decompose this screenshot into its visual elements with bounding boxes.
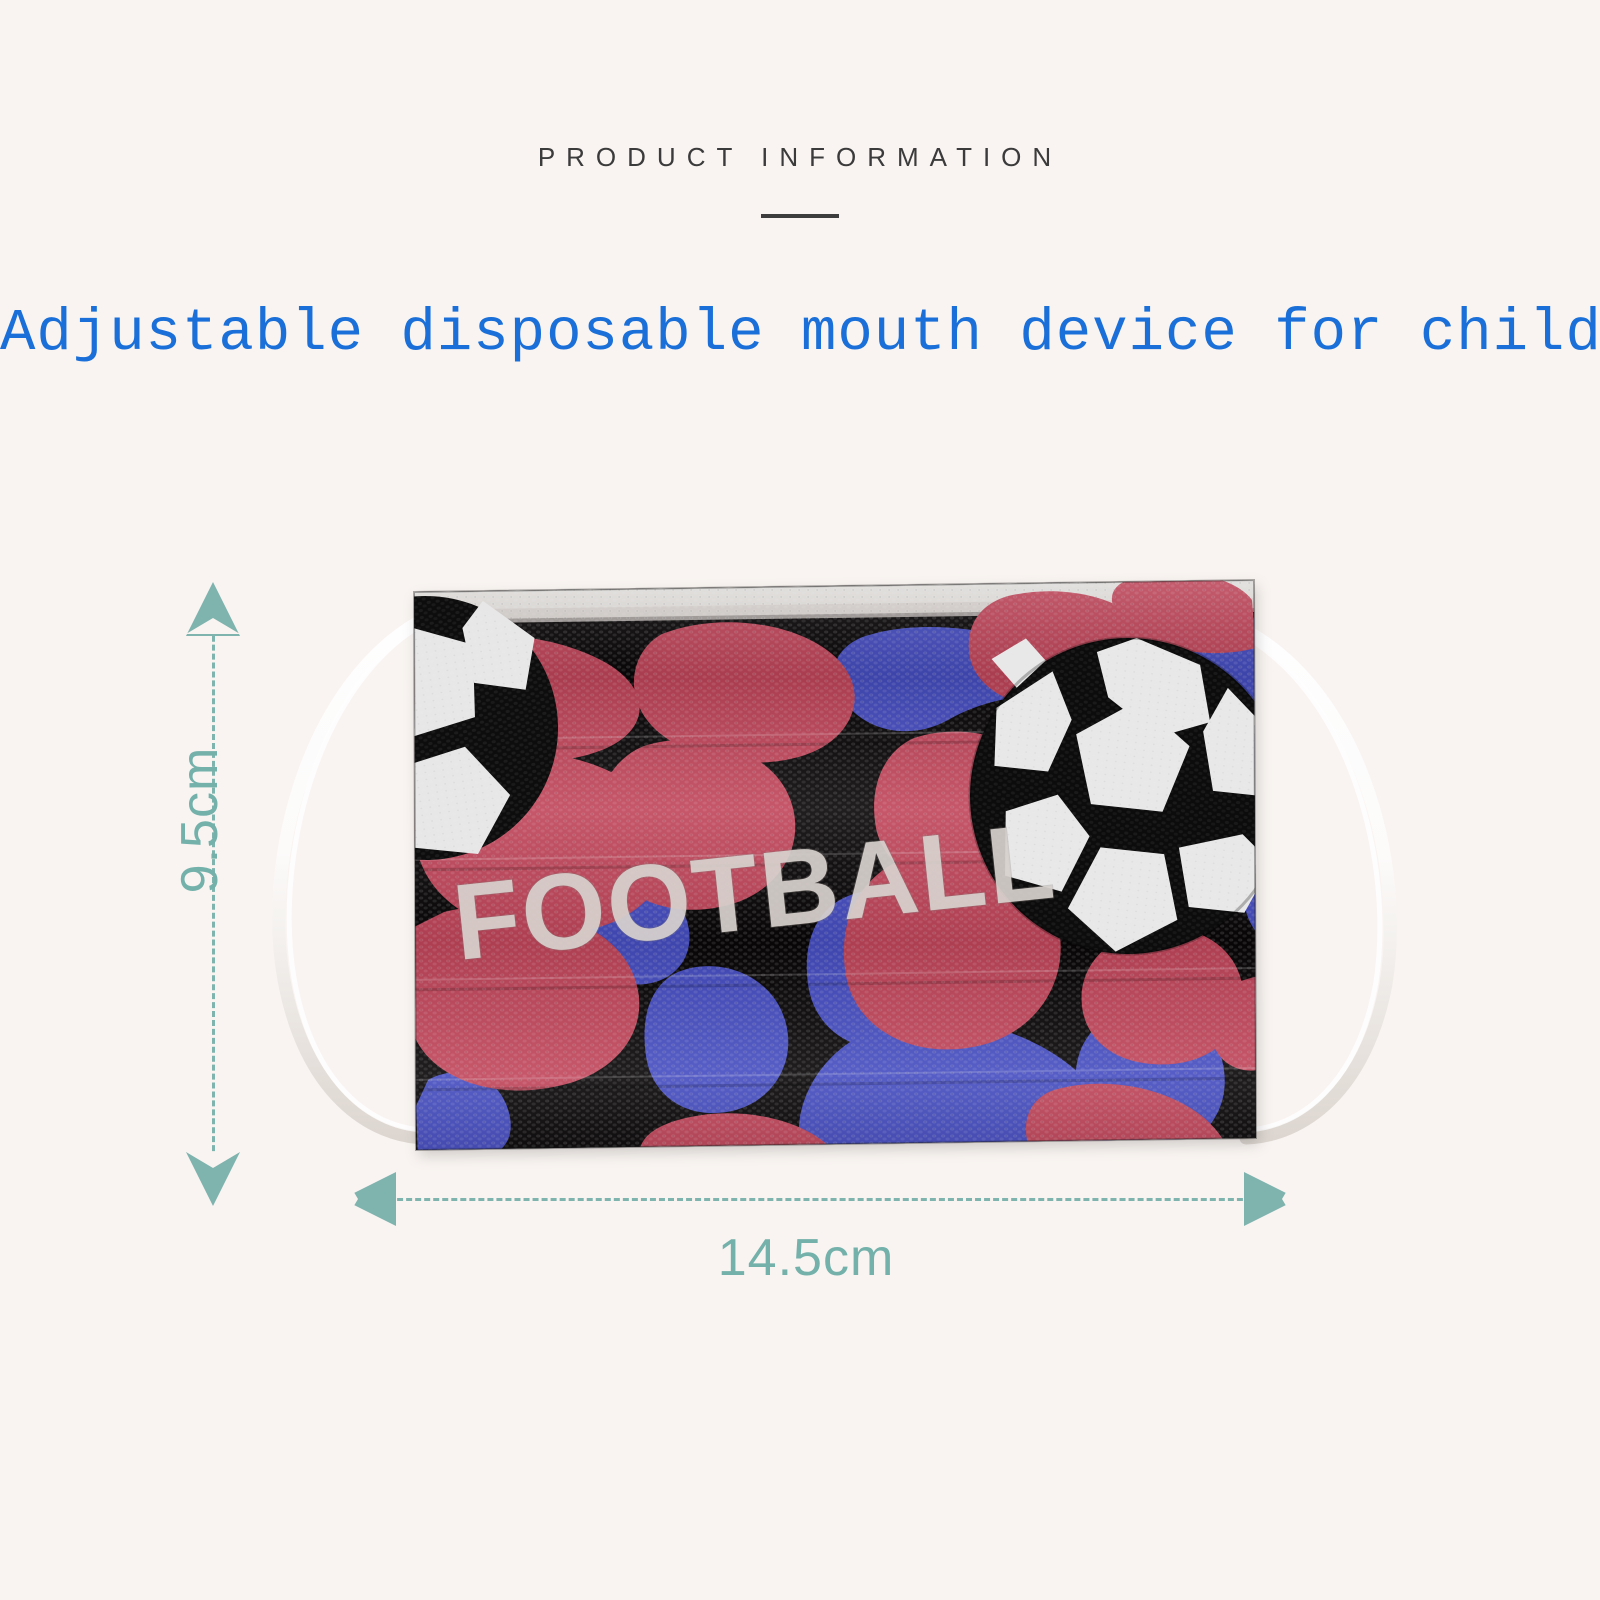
ear-loop-left bbox=[279, 618, 428, 1138]
width-arrow-right-notch bbox=[1282, 1172, 1298, 1226]
product-information-page: PRODUCT INFORMATION Adjustable disposabl… bbox=[0, 0, 1600, 1600]
width-dimension-label: 14.5cm bbox=[0, 1228, 1600, 1288]
page-title: Adjustable disposable mouth device for c… bbox=[0, 300, 1600, 367]
height-dimension-label: 9.5cm bbox=[170, 720, 230, 920]
face-mask-illustration: FOOTBALL bbox=[248, 560, 1418, 1180]
product-image: FOOTBALL bbox=[248, 560, 1418, 1180]
width-dimension-line bbox=[370, 1198, 1270, 1201]
eyebrow-divider bbox=[761, 214, 839, 218]
section-eyebrow: PRODUCT INFORMATION bbox=[0, 142, 1600, 173]
ear-loop-right bbox=[1244, 630, 1390, 1138]
height-arrow-down-notch bbox=[186, 1152, 240, 1168]
width-arrow-left-notch bbox=[342, 1172, 358, 1226]
height-arrow-up-notch bbox=[186, 618, 240, 634]
mask-body: FOOTBALL bbox=[269, 570, 1378, 1170]
